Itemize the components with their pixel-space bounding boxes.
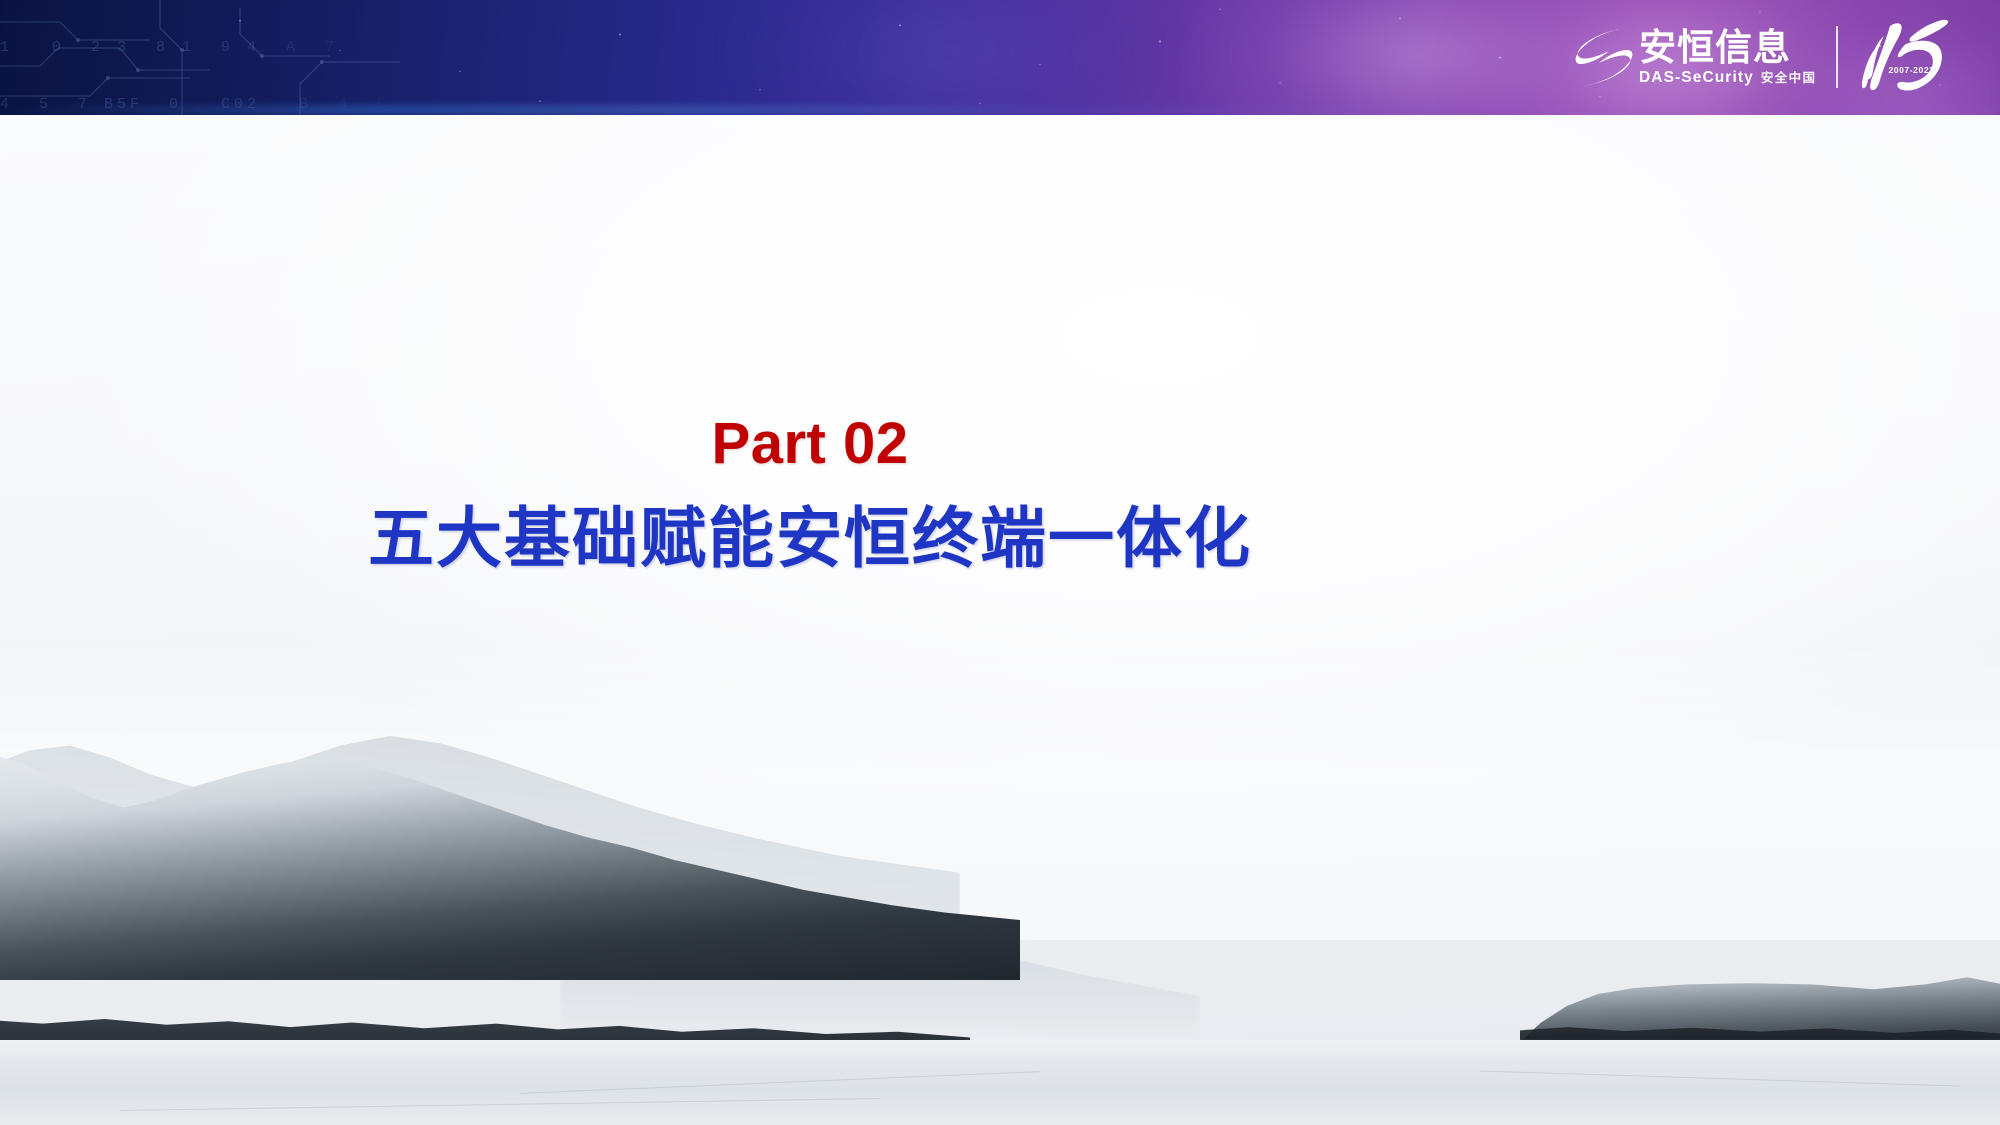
logo-tagline-cn: 安全中国 bbox=[1761, 71, 1817, 85]
logo-company-name-en: DAS-SeCurity bbox=[1639, 70, 1754, 86]
logo-wordmark-block: 安恒信息 DAS-SeCurity 安全中国 bbox=[1639, 28, 1816, 86]
das-security-swoosh-logo-icon bbox=[1575, 25, 1633, 89]
anniversary-years-label: 2007-2022 bbox=[1888, 65, 1934, 75]
banner-bottom-glow bbox=[0, 105, 2000, 115]
hex-code-texture: 1 0 2 3 8 1 9 4 A 7 4 5 7 B5F 0 C02 B 4 … bbox=[0, 0, 420, 115]
part-label: Part 02 bbox=[0, 412, 1620, 476]
frozen-lake-foreground bbox=[0, 1040, 2000, 1125]
presentation-slide: 1 0 2 3 8 1 9 4 A 7 4 5 7 B5F 0 C02 B 4 … bbox=[0, 0, 2000, 1125]
slide-title-block: Part 02 五大基础赋能安恒终端一体化 bbox=[0, 412, 1620, 576]
page-title: 五大基础赋能安恒终端一体化 bbox=[0, 500, 1620, 576]
logo-company-name-cn: 安恒信息 bbox=[1639, 28, 1816, 68]
logo-vertical-divider bbox=[1836, 26, 1838, 88]
anniversary-15-brush-icon bbox=[1860, 18, 1952, 96]
brand-logo-lockup[interactable]: 安恒信息 DAS-SeCurity 安全中国 bbox=[1575, 14, 1952, 100]
header-banner: 1 0 2 3 8 1 9 4 A 7 4 5 7 B5F 0 C02 B 4 … bbox=[0, 0, 2000, 115]
code-line: 1 0 2 3 8 1 9 4 A 7 bbox=[0, 38, 420, 57]
logo-subline: DAS-SeCurity 安全中国 bbox=[1639, 70, 1816, 86]
anniversary-logo: 2007-2022 bbox=[1860, 18, 1952, 96]
